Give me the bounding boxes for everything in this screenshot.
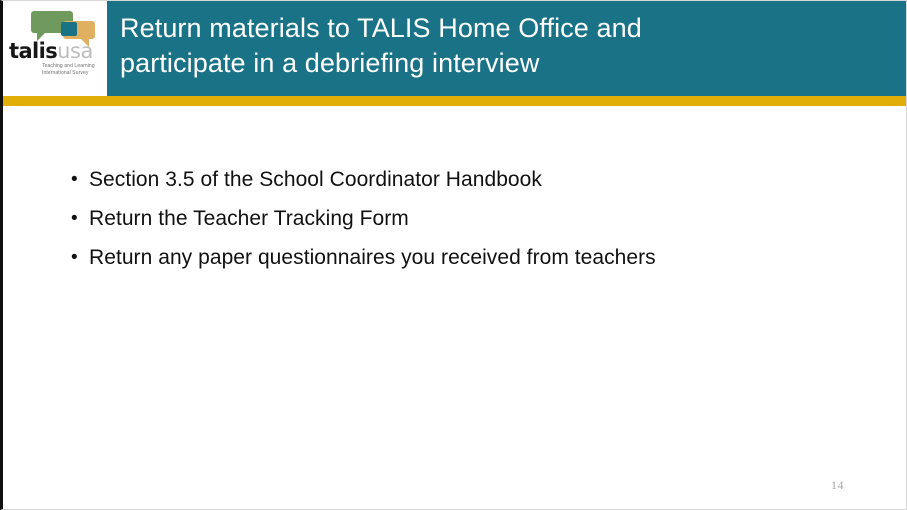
logo-tagline: Teaching and Learning International Surv…: [42, 63, 104, 77]
logo-tagline-line-1: Teaching and Learning: [42, 63, 104, 70]
logo-wordmark-usa: usa: [57, 39, 93, 63]
gold-accent-bar: [3, 96, 907, 106]
teal-speech-bubble-icon: [61, 22, 77, 36]
logo-wordmark: talisusa: [9, 41, 105, 62]
slide-title-line-2: participate in a debriefing interview: [120, 46, 890, 81]
slide-title: Return materials to TALIS Home Office an…: [120, 11, 890, 81]
list-item: Section 3.5 of the School Coordinator Ha…: [71, 168, 871, 192]
bullet-list: Section 3.5 of the School Coordinator Ha…: [71, 168, 871, 285]
talis-usa-logo: talisusa Teaching and Learning Internati…: [3, 1, 107, 96]
slide-body: Section 3.5 of the School Coordinator Ha…: [3, 106, 907, 510]
slide: talisusa Teaching and Learning Internati…: [0, 0, 907, 510]
list-item: Return any paper questionnaires you rece…: [71, 246, 871, 270]
slide-title-line-1: Return materials to TALIS Home Office an…: [120, 11, 890, 46]
list-item: Return the Teacher Tracking Form: [71, 207, 871, 231]
page-number: 14: [831, 478, 844, 493]
logo-tagline-line-2: International Survey: [42, 70, 104, 77]
logo-wordmark-talis: talis: [9, 39, 57, 63]
